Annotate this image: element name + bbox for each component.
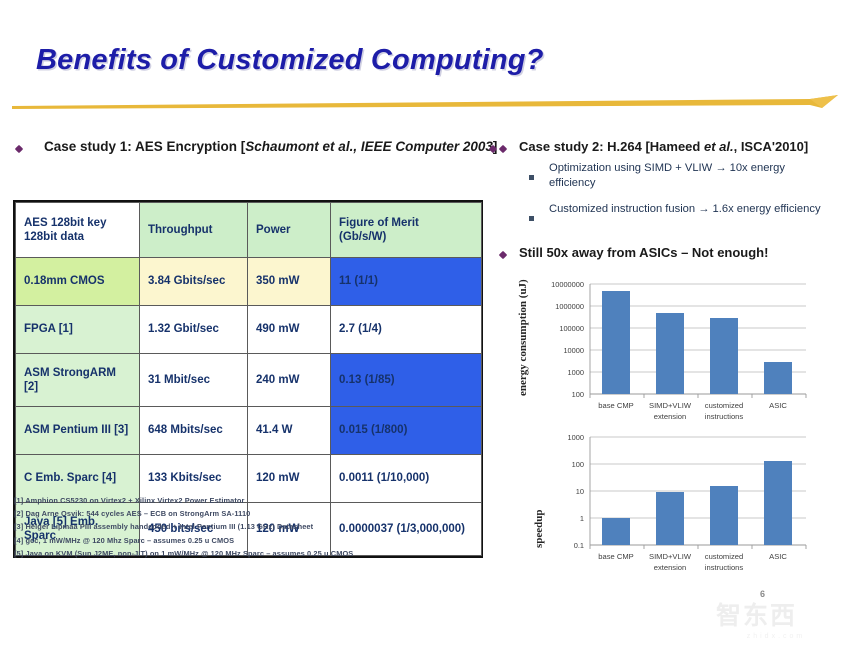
case-study-1-heading: Case study 1: AES Encryption [Schaumont … — [44, 139, 497, 154]
watermark: 智东西 zhidx.com — [716, 596, 836, 648]
chart1-y-axis-title: energy consumption (uJ) — [517, 279, 529, 396]
sub-bullet-text-2: Customized instruction fusion → 1.6x ene… — [549, 202, 829, 217]
chart2-ytick-4: 100 — [572, 460, 584, 469]
row-name-pentium3: ASM Pentium III [3] — [16, 407, 140, 455]
chart1-ytick-4: 100000 — [559, 324, 584, 333]
sub-bullet-marker-2 — [529, 208, 534, 226]
chart-energy-consumption: energy consumption (uJ) 10000000 1000000… — [512, 268, 842, 428]
row-name-strongarm: ASM StrongARM [2] — [16, 354, 140, 407]
case-study-2-citation: et al. — [704, 139, 734, 154]
chart1-ytick-5: 1000000 — [555, 302, 584, 311]
row-power-cmos: 350 mW — [248, 258, 331, 306]
row-name-strongarm-line-2: [2] — [24, 381, 38, 393]
diamond-bullet-icon — [15, 145, 23, 153]
footnote-4: [4] gcc, 1 mW/MHz @ 120 Mhz Sparc – assu… — [14, 534, 353, 547]
chart2-bar-asic — [764, 461, 792, 545]
diamond-bullet-icon — [499, 145, 507, 153]
chart1-bar-simd-vliw — [656, 313, 684, 394]
row-fom-fpga: 2.7 (1/4) — [331, 306, 482, 354]
chart1-bars — [602, 291, 792, 394]
chart2-ytick-2: 1 — [580, 514, 584, 523]
slide-canvas: Benefits of Customized Computing? Case s… — [0, 0, 850, 657]
row-power-fpga: 490 mW — [248, 306, 331, 354]
row-throughput-strongarm: 31 Mbit/sec — [140, 354, 248, 407]
bullet-case-study-1 — [16, 146, 22, 152]
case-study-2-heading: Case study 2: H.264 [Hameed et al., ISCA… — [519, 139, 808, 154]
row-power-strongarm: 240 mW — [248, 354, 331, 407]
table-row: ASM Pentium III [3] 648 Mbits/sec 41.4 W… — [16, 407, 482, 455]
chart1-cat-0-line-0: base CMP — [598, 401, 633, 410]
table-row: ASM StrongARM [2] 31 Mbit/sec 240 mW 0.1… — [16, 354, 482, 407]
case-study-1-citation: Schaumont et al., IEEE Computer 2003 — [245, 139, 493, 154]
chart2-y-axis-title: speedup — [533, 509, 545, 548]
bullet-case-study-2 — [500, 146, 506, 152]
chart2-category-labels: base CMP SIMD+VLIW extension customized … — [598, 552, 787, 572]
chart1-category-labels: base CMP SIMD+VLIW extension customized … — [598, 401, 787, 421]
chart2-cat-3-line-0: ASIC — [769, 552, 787, 561]
row-power-pentium3: 41.4 W — [248, 407, 331, 455]
row-throughput-cmos: 3.84 Gbits/sec — [140, 258, 248, 306]
footnote-1: [1] Amphion CS5230 on Virtex2 + Xilinx V… — [14, 494, 353, 507]
case-study-2-prefix: Case study 2: H.264 [Hameed — [519, 139, 704, 154]
chart1-ytick-3: 10000 — [563, 346, 584, 355]
header-fom-line-2: (Gb/s/W) — [339, 231, 386, 243]
table-header-cell-subject: AES 128bit key 128bit data — [16, 203, 140, 258]
chart2-cat-2-line-1: instructions — [705, 563, 744, 572]
bullet-conclusion — [500, 252, 506, 258]
diamond-bullet-right-of-heading — [490, 146, 496, 152]
sub-bullet-marker-1 — [529, 167, 534, 185]
header-fom-line-1: Figure of Merit — [339, 217, 419, 229]
footnotes-block: [1] Amphion CS5230 on Virtex2 + Xilinx V… — [14, 494, 353, 560]
chart2-ytick-1: 0.1 — [574, 541, 584, 550]
table-row: 0.18mm CMOS 3.84 Gbits/sec 350 mW 11 (1/… — [16, 258, 482, 306]
table-header-cell-throughput: Throughput — [140, 203, 248, 258]
chart1-bar-base-cmp — [602, 291, 630, 394]
watermark-url: zhidx.com — [716, 633, 836, 640]
page-title: Benefits of Customized Computing? — [36, 44, 544, 77]
footnote-3: [3] Helger Lipmaa PIII assembly handcode… — [14, 520, 353, 533]
chart1-ytick-6: 10000000 — [551, 280, 584, 289]
chart2-bars — [602, 461, 792, 545]
table-header-cell-figure-of-merit: Figure of Merit (Gb/s/W) — [331, 203, 482, 258]
footnote-5: [5] Java on KVM (Sun J2ME, non-JIT) on 1… — [14, 547, 353, 560]
table-header-row: AES 128bit key 128bit data Throughput Po… — [16, 203, 482, 258]
square-bullet-icon — [529, 175, 534, 180]
chart2-bar-simd-vliw — [656, 492, 684, 545]
chart-speedup: speedup 1000 100 10 1 0.1 — [512, 420, 842, 585]
chart1-bar-asic — [764, 362, 792, 394]
chart1-cat-1-line-0: SIMD+VLIW — [649, 401, 692, 410]
chart2-ytick-3: 10 — [576, 487, 584, 496]
row-fom-cmos: 11 (1/1) — [331, 258, 482, 306]
chart1-ytick-2: 1000 — [568, 368, 584, 377]
page-number: 6 — [760, 589, 765, 599]
row-fom-pentium3: 0.015 (1/800) — [331, 407, 482, 455]
header-line-2: 128bit data — [24, 231, 84, 243]
row-throughput-fpga: 1.32 Gbit/sec — [140, 306, 248, 354]
chart2-bar-base-cmp — [602, 518, 630, 545]
chart1-y-ticks: 10000000 1000000 100000 10000 1000 100 — [551, 280, 584, 399]
chart2-cat-2-line-0: customized — [705, 552, 743, 561]
watermark-logo-text: 智东西 — [716, 596, 836, 632]
chart2-cat-1-line-0: SIMD+VLIW — [649, 552, 692, 561]
chart2-y-ticks: 1000 100 10 1 0.1 — [568, 433, 584, 550]
chart1-ytick-1: 100 — [572, 390, 584, 399]
diamond-bullet-icon — [489, 145, 497, 153]
table-row: FPGA [1] 1.32 Gbit/sec 490 mW 2.7 (1/4) — [16, 306, 482, 354]
diamond-bullet-icon — [499, 251, 507, 259]
chart2-cat-1-line-1: extension — [654, 563, 687, 572]
square-bullet-icon — [529, 216, 534, 221]
row-throughput-pentium3: 648 Mbits/sec — [140, 407, 248, 455]
row-name-fpga: FPGA [1] — [16, 306, 140, 354]
case-study-1-prefix: Case study 1: AES Encryption [ — [44, 139, 245, 154]
chart2-bar-customized — [710, 486, 738, 545]
chart1-cat-3-line-0: ASIC — [769, 401, 787, 410]
chart2-ytick-5: 1000 — [568, 433, 584, 442]
footnote-2: [2] Dag Arne Osvik: 544 cycles AES – ECB… — [14, 507, 353, 520]
row-name-strongarm-line-1: ASM StrongARM — [24, 367, 116, 379]
sub-bullet-text-1: Optimization using SIMD + VLIW → 10x ene… — [549, 161, 829, 192]
conclusion-text: Still 50x away from ASICs – Not enough! — [519, 245, 768, 260]
case-study-2-suffix: , ISCA'2010] — [734, 139, 809, 154]
table-header-cell-power: Power — [248, 203, 331, 258]
row-fom-strongarm: 0.13 (1/85) — [331, 354, 482, 407]
chart1-cat-2-line-0: customized — [705, 401, 743, 410]
chart2-cat-0-line-0: base CMP — [598, 552, 633, 561]
row-name-cmos: 0.18mm CMOS — [16, 258, 140, 306]
chart1-bar-customized — [710, 318, 738, 394]
header-line-1: AES 128bit key — [24, 217, 106, 229]
title-divider-arrow — [10, 94, 838, 112]
